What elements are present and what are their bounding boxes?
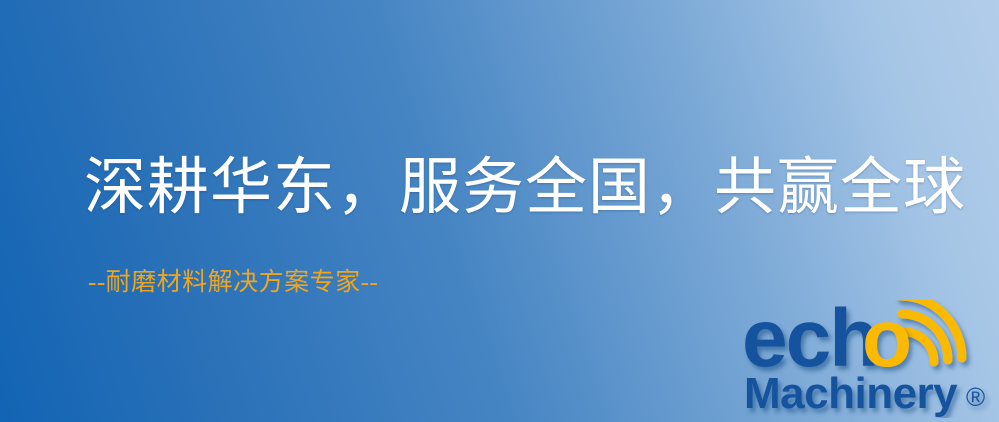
brand-logo-svg: ech o Machinery ® [742,300,994,418]
hero-headline: 深耕华东，服务全国，共赢全球 [84,152,966,224]
wordmark-machinery: Machinery [744,369,958,418]
hero-subtitle: --耐磨材料解决方案专家-- [88,268,378,298]
hero-banner: 深耕华东，服务全国，共赢全球 --耐磨材料解决方案专家-- ech o [0,0,999,422]
registered-mark-icon: ® [966,382,985,412]
brand-logo: ech o Machinery ® [742,300,994,418]
